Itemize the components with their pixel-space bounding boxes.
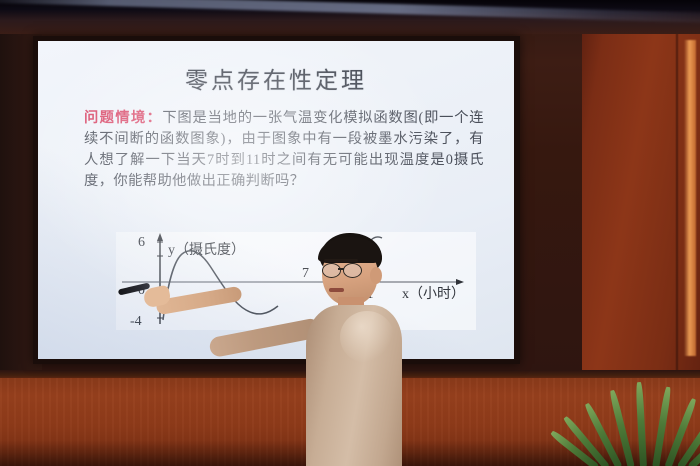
presenter-shoulder-highlight <box>340 311 394 363</box>
y-axis-arrow <box>157 233 163 241</box>
potted-plant <box>588 372 700 466</box>
y-tick-label-6: 6 <box>138 235 145 250</box>
presenter-mouth <box>329 288 344 292</box>
x-axis-arrow <box>456 279 464 285</box>
y-axis-label: y（摄氏度） <box>168 242 245 258</box>
glasses-right-lens <box>343 263 362 278</box>
y-tick-label-neg4: -4 <box>130 314 142 329</box>
slide-body: 问题情境：下图是当地的一张气温变化模拟函数图(即一个连续不间断的函数图象)，由于… <box>84 108 484 192</box>
presenter <box>296 231 426 466</box>
glasses-left-lens <box>322 263 341 278</box>
glasses-bridge <box>338 268 344 270</box>
slide-lead-label: 问题情境： <box>84 110 162 126</box>
classroom-scene: 零点存在性定理 问题情境：下图是当地的一张气温变化模拟函数图(即一个连续不间断的… <box>0 0 700 466</box>
slide-title: 零点存在性定理 <box>38 61 514 95</box>
screen-right-edge-light <box>684 40 696 356</box>
plant-leaf <box>636 382 647 466</box>
presenter-brow <box>324 259 358 262</box>
projection-screen[interactable]: 零点存在性定理 问题情境：下图是当地的一张气温变化模拟函数图(即一个连续不间断的… <box>38 41 514 359</box>
plant-leaf <box>664 398 697 466</box>
presenter-ear <box>370 267 382 284</box>
